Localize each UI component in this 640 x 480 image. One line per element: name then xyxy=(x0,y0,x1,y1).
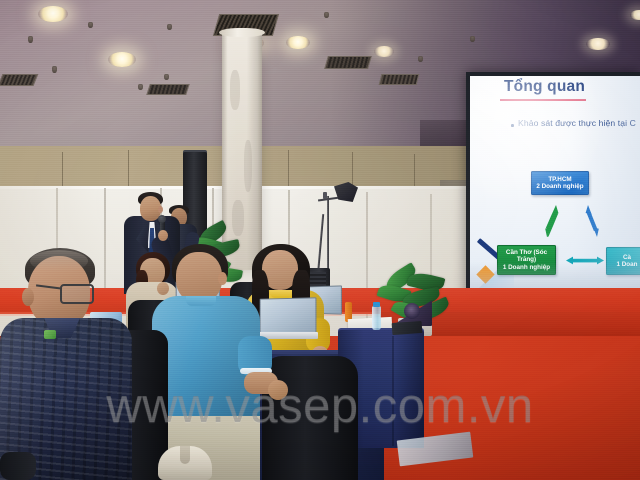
man-blue-polo-collar xyxy=(186,296,216,306)
column-capital xyxy=(219,28,265,37)
man-striped-ear xyxy=(22,288,34,306)
ceiling-vent xyxy=(324,56,372,69)
slide-title-underline xyxy=(500,99,586,101)
diagram-box-hcm-line2: 2 Doanh nghiệp xyxy=(536,183,583,190)
watermark: www.vasep.com.vn xyxy=(0,378,640,434)
sprinkler-head xyxy=(28,36,33,43)
man-blue-polo-head xyxy=(176,252,222,302)
laptop-screen[interactable] xyxy=(260,297,317,336)
sprinkler-head xyxy=(418,56,423,62)
sprinkler-head xyxy=(470,36,475,42)
chair xyxy=(0,452,36,480)
ceiling-vent xyxy=(146,84,190,95)
presenter-hand xyxy=(158,230,168,241)
arrow-cantho-to-hcm xyxy=(545,203,559,239)
marble-vein xyxy=(230,70,240,110)
ceiling-downlight xyxy=(586,38,610,50)
microphone-head xyxy=(158,215,166,223)
ceiling-vent xyxy=(379,74,420,85)
bullet-marker xyxy=(511,124,514,127)
diagram-box-third-line1: Cà xyxy=(623,254,631,261)
sprinkler-head xyxy=(88,22,93,28)
sprinkler-head xyxy=(138,84,143,90)
white-object-detail xyxy=(180,446,190,464)
man-blue-polo-ear xyxy=(218,272,227,285)
ceiling-downlight xyxy=(108,52,136,67)
woman-yellow-collar xyxy=(270,290,292,298)
woman-beige-hand xyxy=(157,282,169,295)
presenter-ear xyxy=(158,206,163,213)
sprinkler-head xyxy=(324,12,329,18)
ceiling-downlight xyxy=(38,6,68,22)
stage-monitor-driver xyxy=(404,303,420,319)
sprinkler-head xyxy=(167,24,172,30)
arrow-hcm-to-third xyxy=(585,203,599,239)
diagram-box-hcm-line1: TP.HCM xyxy=(548,176,571,183)
ceiling-vent xyxy=(0,74,38,86)
tablet-device[interactable] xyxy=(392,321,423,335)
water-bottle-cap xyxy=(373,302,380,307)
ceiling-downlight xyxy=(374,46,394,57)
eyeglasses-lens xyxy=(60,284,94,304)
slide-title: Tổng quan xyxy=(504,78,585,96)
water-bottle xyxy=(372,306,381,330)
ceiling-downlight xyxy=(286,36,310,49)
diagram-box-hcm: TP.HCM 2 Doanh nghiệp xyxy=(531,171,589,195)
sprinkler-head xyxy=(52,66,57,73)
sprinkler-head xyxy=(164,74,169,80)
light-stand-knob xyxy=(323,192,327,199)
slide-bullet-text: Khảo sát được thực hiện tại C xyxy=(518,118,636,128)
marble-vein xyxy=(244,140,252,192)
conference-photo: Tổng quan Khảo sát được thực hiện tại C … xyxy=(0,0,640,480)
man-striped-hair-highlight xyxy=(30,250,88,272)
